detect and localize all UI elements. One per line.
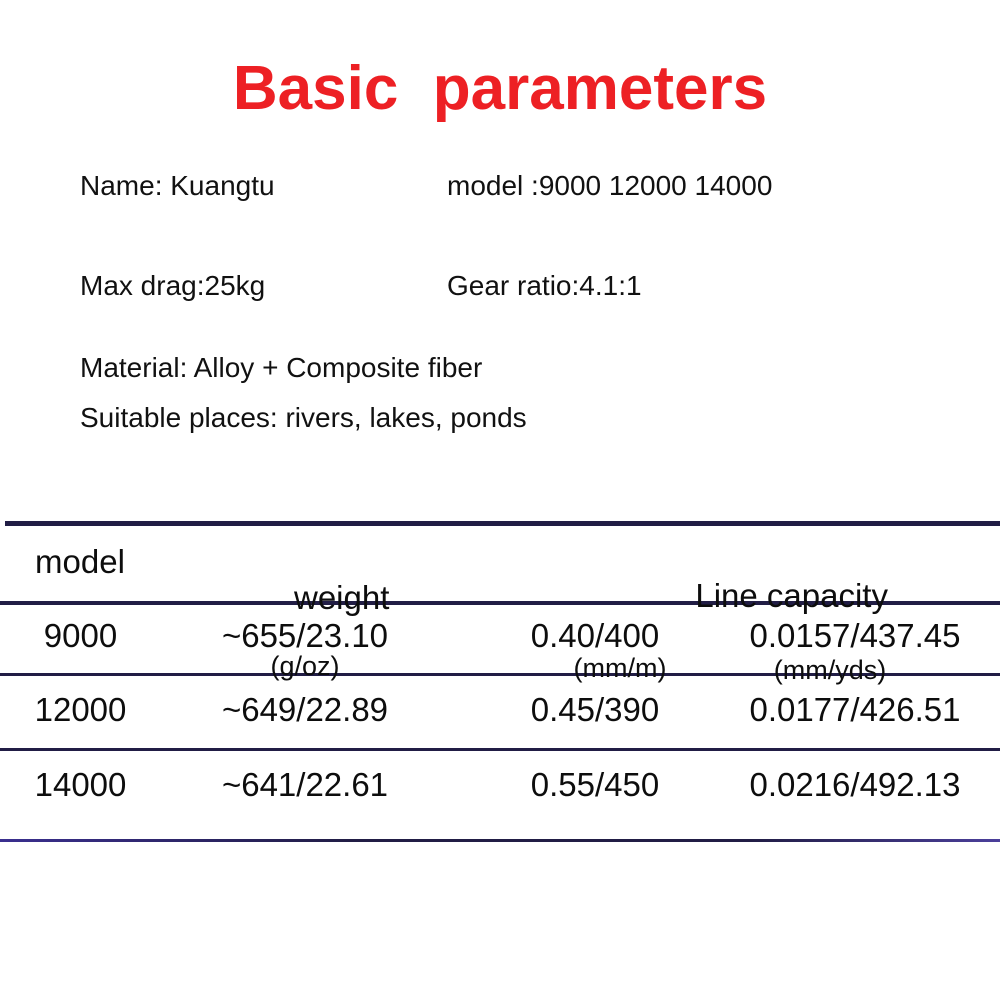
cell-weight: ~655/23.10 [190, 617, 420, 655]
spec-model-list: model :9000 12000 14000 [447, 170, 772, 202]
table-bottom-rule [0, 839, 1000, 842]
spec-max-drag: Max drag:25kg [80, 270, 265, 302]
cell-line-mm-yds: 0.0177/426.51 [715, 691, 995, 729]
cell-line-mm-m: 0.55/450 [490, 766, 700, 804]
table-top-rule [5, 521, 1000, 526]
spec-row: Max drag:25kg Gear ratio:4.1:1 [0, 270, 1000, 352]
cell-line-mm-m: 0.40/400 [490, 617, 700, 655]
spec-suitable-places: Suitable places: rivers, lakes, ponds [80, 402, 527, 434]
spec-row: Material: Alloy + Composite fiber [0, 352, 1000, 402]
cell-model: 14000 [8, 766, 153, 804]
column-header-model: model [20, 543, 140, 581]
cell-model: 12000 [8, 691, 153, 729]
specification-block: Name: Kuangtu model :9000 12000 14000 Ma… [0, 170, 1000, 452]
spec-row: Name: Kuangtu model :9000 12000 14000 [0, 170, 1000, 270]
cell-line-mm-yds: 0.0216/492.13 [715, 766, 995, 804]
spec-row: Suitable places: rivers, lakes, ponds [0, 402, 1000, 452]
table-row: 12000 ~649/22.89 0.45/390 0.0177/426.51 [0, 681, 1000, 751]
cell-line-mm-yds: 0.0157/437.45 [715, 617, 995, 655]
spec-name: Name: Kuangtu [80, 170, 275, 202]
cell-weight: ~641/22.61 [190, 766, 420, 804]
spec-gear-ratio: Gear ratio:4.1:1 [447, 270, 642, 302]
spec-material: Material: Alloy + Composite fiber [80, 352, 482, 384]
cell-model: 9000 [8, 617, 153, 655]
table-header-row: model weight (g/oz) Line capacity (mm/m)… [0, 527, 1000, 601]
cell-line-mm-m: 0.45/390 [490, 691, 700, 729]
table-row: 9000 ~655/23.10 0.40/400 0.0157/437.45 [0, 607, 1000, 677]
table-row: 14000 ~641/22.61 0.55/450 0.0216/492.13 [0, 756, 1000, 826]
product-spec-sheet: Basic parameters Name: Kuangtu model :90… [0, 0, 1000, 1000]
page-title: Basic parameters [0, 56, 1000, 121]
cell-weight: ~649/22.89 [190, 691, 420, 729]
